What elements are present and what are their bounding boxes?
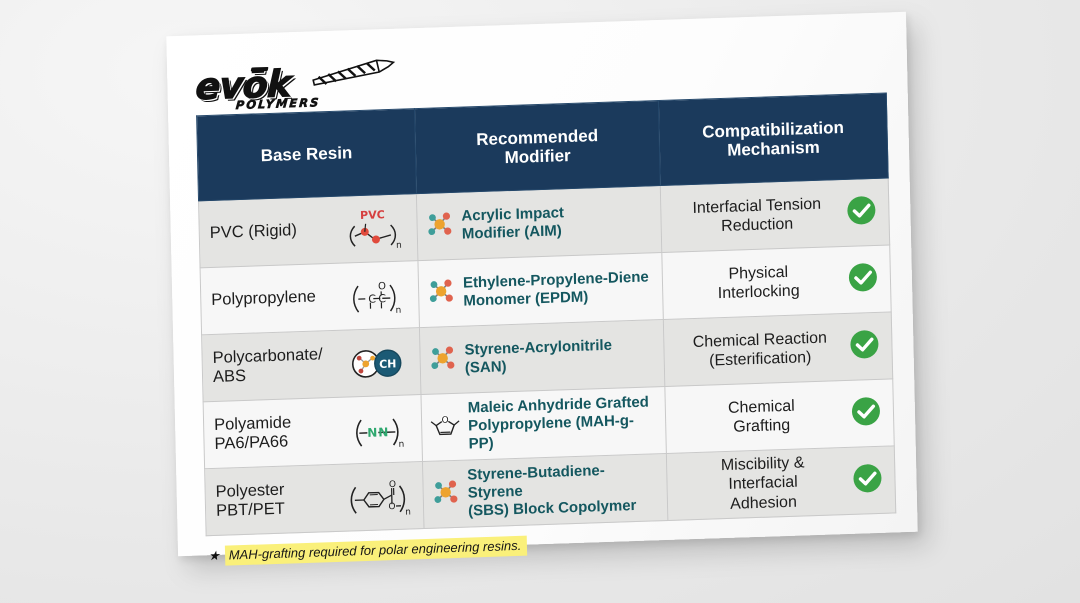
resin-name: Polycarbonate/ ABS (212, 345, 323, 387)
resin-line: Polypropylene (211, 288, 316, 311)
svg-text:n: n (405, 507, 411, 517)
svg-text:O: O (378, 281, 386, 292)
svg-text:n: n (396, 241, 402, 251)
card-content: evōk POLYMERS (189, 27, 894, 538)
svg-text:O: O (389, 480, 396, 490)
check-circle-icon (846, 194, 877, 230)
infographic-card: evōk POLYMERS (166, 12, 917, 556)
cell-recommended-modifier: Styrene-Butadiene-Styrene (SBS) Block Co… (423, 453, 668, 528)
header-line: Base Resin (204, 142, 409, 168)
mechanism-text: Interfacial Tension Reduction (671, 194, 847, 238)
column-header-base-resin: Base Resin (197, 109, 417, 201)
brand-tagline: POLYMERS (235, 95, 321, 112)
star-icon: ★ (208, 548, 220, 564)
cell-mechanism: Miscibility & Interfacial Adhesion (666, 446, 895, 521)
resin-line: Polycarbonate/ (212, 345, 322, 368)
molecule-icon (424, 208, 455, 244)
modifier-line: Modifier (AIM) (462, 222, 565, 243)
cell-mechanism: Chemical Grafting (665, 379, 894, 454)
amide-nn-chain-icon: N N n (341, 405, 414, 453)
modifier-line: (SAN) (465, 355, 613, 378)
svg-text:O: O (441, 415, 448, 425)
column-header-recommended-modifier: Recommended Modifier (414, 101, 660, 194)
cell-mechanism: Physical Interlocking (662, 245, 891, 320)
svg-text:n: n (399, 440, 405, 450)
compatibilization-table: Base Resin Recommended Modifier Compatib… (196, 92, 896, 536)
cell-base-resin: Polycarbonate/ ABS (202, 328, 421, 402)
resin-name: Polyester PBT/PET (215, 481, 285, 522)
modifier-name: Maleic Anhydride Grafted Polypropylene (… (468, 393, 658, 453)
anhydride-ring-icon: O (429, 409, 462, 445)
resin-name: Polyamide PA6/PA66 (214, 413, 292, 454)
polypropylene-backbone-icon: C C O n (338, 271, 411, 319)
resin-line: Polyester (215, 481, 284, 502)
modifier-name: Styrene-Butadiene-Styrene (SBS) Block Co… (467, 460, 659, 520)
cell-mechanism: Chemical Reaction (Esterification) (663, 312, 892, 387)
check-circle-icon (848, 261, 879, 297)
molecule-icon (427, 342, 458, 378)
resin-name: Polypropylene (211, 288, 316, 311)
resin-line: Polyamide (214, 413, 291, 435)
aromatic-ester-chain-icon: O O n (342, 472, 415, 520)
molecule-icon (426, 275, 457, 311)
cell-base-resin: Polyamide PA6/PA66 N (203, 395, 422, 469)
svg-text:N: N (367, 426, 377, 440)
resin-line: PBT/PET (216, 500, 285, 521)
ch-label: CH (379, 357, 397, 371)
svg-text:C: C (378, 292, 386, 305)
pvc-structure-label: PVC (360, 208, 385, 222)
pvc-polymer-chain-icon: PVC n (336, 204, 409, 252)
resin-name: PVC (Rigid) (210, 222, 297, 244)
column-header-compatibilization-mechanism: Compatibilization Mechanism (658, 93, 888, 186)
svg-text:O: O (388, 502, 395, 512)
macron-mark (251, 67, 269, 72)
modifier-name: Ethylene-Propylene-Diene Monomer (EPDM) (463, 268, 650, 310)
modifier-line: Polypropylene (MAH-g-PP) (468, 411, 658, 453)
resin-line: PVC (Rigid) (210, 222, 297, 244)
cell-base-resin: PVC (Rigid) PVC (199, 194, 418, 268)
cell-mechanism: Interfacial Tension Reduction (660, 178, 889, 253)
modifier-name: Acrylic Impact Modifier (AIM) (461, 204, 564, 243)
cell-recommended-modifier: O Maleic Anhydride Grafted Polypropylene… (421, 386, 666, 461)
cell-recommended-modifier: Ethylene-Propylene-Diene Monomer (EPDM) (418, 253, 663, 328)
mechanism-text: Physical Interlocking (673, 261, 849, 305)
svg-text:N: N (378, 425, 388, 439)
check-circle-icon (851, 395, 882, 431)
resin-line: PA6/PA66 (214, 432, 291, 454)
mechanism-text: Chemical Grafting (676, 395, 852, 439)
screw-bolt-icon (309, 57, 400, 94)
check-circle-icon (849, 328, 880, 364)
cell-recommended-modifier: Styrene-Acrylonitrile (SAN) (419, 319, 664, 394)
resin-line: ABS (213, 364, 323, 387)
cell-base-resin: Polypropylene C C (200, 261, 419, 335)
brand-logo: evōk POLYMERS (195, 57, 396, 116)
ch-group-circles-icon: CH (339, 338, 412, 386)
svg-text:n: n (395, 306, 401, 316)
svg-text:C: C (368, 293, 376, 306)
check-circle-icon (852, 462, 883, 498)
mechanism-text: Chemical Reaction (Esterification) (674, 328, 850, 372)
molecule-icon (430, 476, 461, 512)
modifier-name: Styrene-Acrylonitrile (SAN) (464, 337, 612, 378)
mechanism-text: Miscibility & Interfacial Adhesion (677, 452, 853, 515)
cell-base-resin: Polyester PBT/PET (205, 462, 424, 536)
cell-recommended-modifier: Acrylic Impact Modifier (AIM) (416, 186, 661, 261)
